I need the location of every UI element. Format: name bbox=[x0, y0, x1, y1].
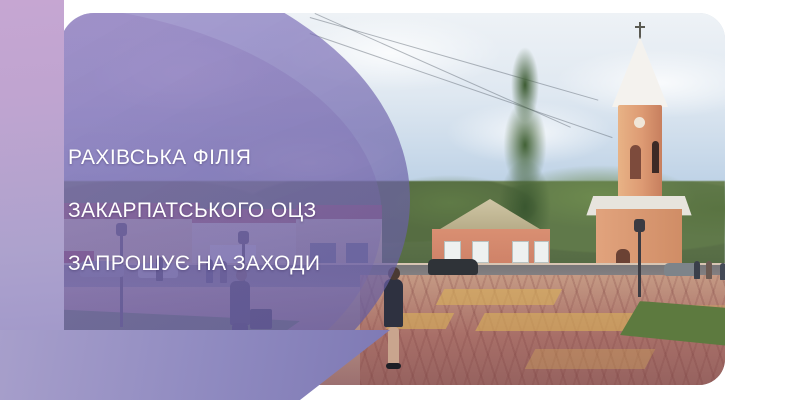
foreground-woman-legs bbox=[388, 327, 399, 365]
house-window bbox=[512, 241, 529, 263]
pedestrian bbox=[694, 261, 700, 279]
banner-canvas: РАХІВСЬКА ФІЛІЯ ЗАКАРПАТСЬКОГО ОЦЗ ЗАПРО… bbox=[0, 0, 800, 400]
lamp-head bbox=[634, 219, 645, 232]
paving-accent bbox=[525, 349, 656, 369]
headline-line-1: РАХІВСЬКА ФІЛІЯ bbox=[68, 145, 398, 172]
foreground-woman-shoes bbox=[386, 363, 401, 369]
parked-car bbox=[428, 259, 478, 275]
church-spire bbox=[612, 37, 668, 107]
briefcase bbox=[250, 309, 272, 329]
paving-accent bbox=[475, 313, 635, 331]
pedestrian bbox=[720, 263, 725, 280]
house-window bbox=[534, 241, 549, 263]
bottom-gradient-band bbox=[0, 330, 390, 400]
church-window bbox=[652, 141, 659, 173]
headline-line-2: ЗАКАРПАТСЬКОГО ОЦЗ bbox=[68, 198, 398, 225]
headline-line-3: ЗАПРОШУЄ НА ЗАХОДИ bbox=[68, 251, 398, 278]
paving-accent bbox=[436, 289, 563, 305]
church-clock bbox=[634, 117, 645, 128]
lamp-post bbox=[638, 227, 641, 297]
pedestrian bbox=[706, 261, 712, 279]
headline: РАХІВСЬКА ФІЛІЯ ЗАКАРПАТСЬКОГО ОЦЗ ЗАПРО… bbox=[68, 118, 398, 304]
church-window bbox=[630, 145, 641, 179]
